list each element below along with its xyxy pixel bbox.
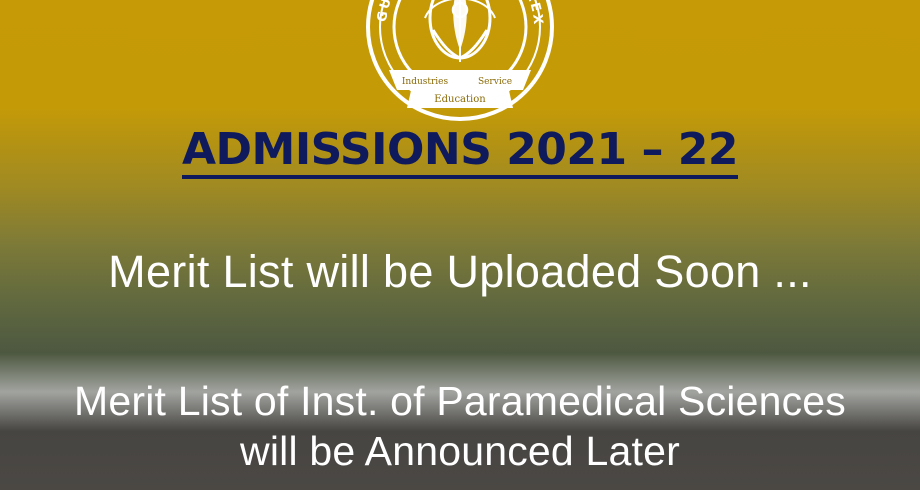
poster-line-3: will be Announced Later — [0, 426, 920, 476]
crest-text-left: GULA — [375, 0, 407, 23]
poster-headline: ADMISSIONS 2021 – 22 — [0, 128, 920, 179]
admissions-poster: GULA MPLEX Industries Service Education … — [0, 0, 920, 490]
svg-text:GULA: GULA — [375, 0, 407, 23]
crest-ribbon-right: Service — [478, 77, 512, 87]
poster-line-2: Merit List of Inst. of Paramedical Scien… — [0, 376, 920, 426]
crest-logo: GULA MPLEX Industries Service Education — [355, 0, 565, 132]
crest-ribbon-left: Industries — [402, 77, 449, 87]
crest-ribbon-center: Education — [434, 94, 486, 105]
poster-line-2-block: Merit List of Inst. of Paramedical Scien… — [0, 376, 920, 476]
poster-headline-text: ADMISSIONS 2021 – 22 — [182, 128, 738, 179]
poster-line-1: Merit List will be Uploaded Soon ... — [0, 248, 920, 295]
